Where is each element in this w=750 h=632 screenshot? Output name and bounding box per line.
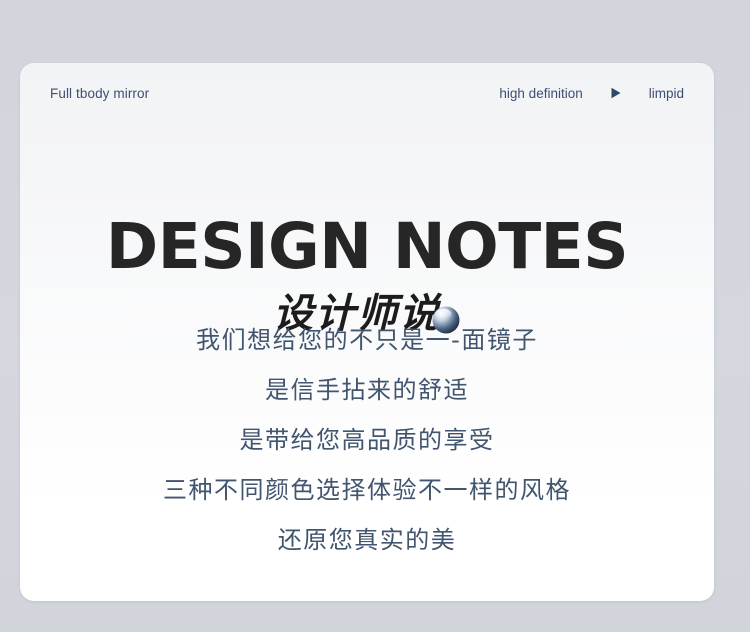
product-name-label: Full tbody mirror (50, 86, 149, 101)
eyebrow-bar: Full tbody mirror high definition limpid (20, 81, 714, 105)
copy-line: 还原您真实的美 (20, 515, 714, 565)
copy-line: 我们想给您的不只是一-面镜子 (20, 315, 714, 365)
play-arrow-right-icon (609, 86, 623, 100)
page-title: DESIGN NOTES (20, 215, 714, 278)
copy-line: 三种不同颜色选择体验不一样的风格 (20, 465, 714, 515)
feature-tagline-group: high definition limpid (499, 86, 684, 101)
copy-line: 是带给您高品质的享受 (20, 415, 714, 465)
copy-line: 是信手拈来的舒适 (20, 365, 714, 415)
quality-label: limpid (649, 86, 684, 101)
copy-block: 我们想给您的不只是一-面镜子 是信手拈来的舒适 是带给您高品质的享受 三种不同颜… (20, 315, 714, 565)
design-notes-card: Full tbody mirror high definition limpid… (20, 63, 714, 601)
feature-label: high definition (499, 86, 582, 101)
page-root: Full tbody mirror high definition limpid… (0, 0, 750, 632)
